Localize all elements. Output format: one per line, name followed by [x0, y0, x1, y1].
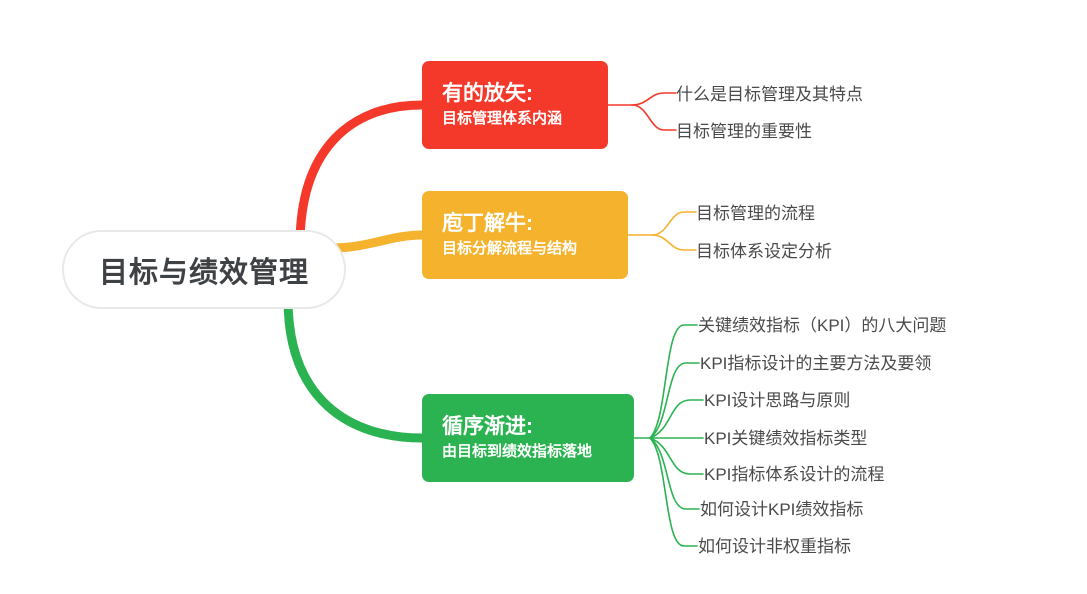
wire-red-leaf-0 [632, 93, 676, 105]
trunk-root-to-green [288, 299, 422, 438]
branch-node-yellow[interactable]: 庖丁解牛: 目标分解流程与结构 [422, 191, 628, 279]
branch-node-red[interactable]: 有的放矢: 目标管理体系内涵 [422, 61, 608, 149]
branch-yellow-title: 庖丁解牛: [442, 212, 533, 236]
wire-green-leaf-6 [650, 438, 697, 546]
leaf-green-1[interactable]: KPI指标设计的主要方法及要领 [700, 355, 931, 372]
wire-red-leaf-1 [632, 105, 676, 130]
branch-red-subtitle: 目标管理体系内涵 [442, 109, 562, 129]
branch-red-title: 有的放矢: [442, 82, 533, 106]
branch-green-title: 循序渐进: [442, 415, 533, 439]
leaf-yellow-1[interactable]: 目标体系设定分析 [696, 243, 832, 260]
leaf-green-5[interactable]: 如何设计KPI绩效指标 [700, 501, 863, 518]
wire-yellow-leaf-1 [652, 235, 696, 250]
wire-green-leaf-5 [650, 438, 699, 509]
branch-node-green[interactable]: 循序渐进: 由目标到绩效指标落地 [422, 394, 634, 482]
trunk-root-to-red [300, 105, 422, 245]
wire-green-leaf-2 [650, 400, 703, 438]
trunk-root-to-yellow [330, 235, 422, 248]
wire-yellow-leaf-0 [652, 212, 696, 235]
leaf-green-3[interactable]: KPI关键绩效指标类型 [704, 430, 867, 447]
root-node-label: 目标与绩效管理 [99, 249, 309, 291]
mindmap-canvas: 目标与绩效管理 有的放矢: 目标管理体系内涵 庖丁解牛: 目标分解流程与结构 循… [0, 0, 1087, 594]
leaf-green-0[interactable]: 关键绩效指标（KPI）的八大问题 [698, 317, 946, 334]
branch-green-subtitle: 由目标到绩效指标落地 [442, 442, 592, 462]
leaf-green-6[interactable]: 如何设计非权重指标 [698, 538, 851, 555]
leaf-red-1[interactable]: 目标管理的重要性 [676, 123, 812, 140]
leaf-green-4[interactable]: KPI指标体系设计的流程 [704, 466, 884, 483]
branch-yellow-subtitle: 目标分解流程与结构 [442, 239, 577, 259]
leaf-green-2[interactable]: KPI设计思路与原则 [704, 392, 850, 409]
leaf-red-0[interactable]: 什么是目标管理及其特点 [676, 86, 863, 103]
wire-green-leaf-4 [650, 438, 703, 474]
wire-green-leaf-0 [650, 325, 697, 438]
root-node[interactable]: 目标与绩效管理 [62, 230, 346, 309]
leaf-yellow-0[interactable]: 目标管理的流程 [696, 205, 815, 222]
wire-green-leaf-1 [650, 363, 699, 438]
